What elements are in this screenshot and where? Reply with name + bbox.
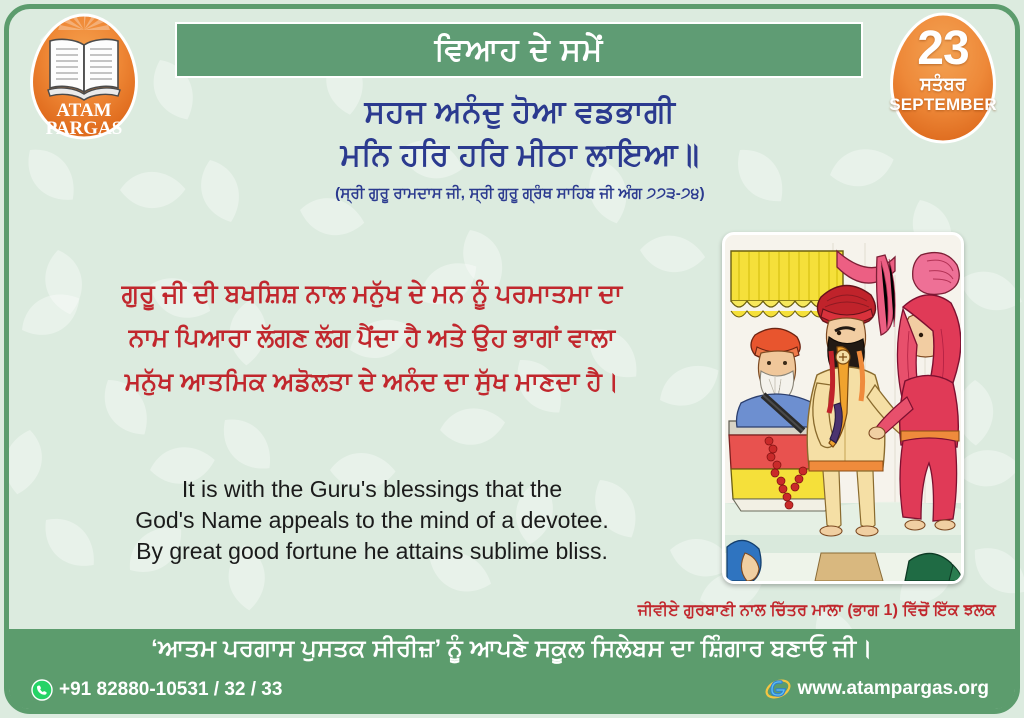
atam-pargas-logo[interactable]: ATAM PARGAS xyxy=(22,12,146,144)
footer-banner: ‘ਆਤਮ ਪਰਗਾਸ ਪੁਸਤਕ ਸੀਰੀਜ਼’ ਨੂੰ ਆਪਣੇ ਸਕੂਲ ਸ… xyxy=(9,629,1015,709)
logo-line2: PARGAS xyxy=(46,118,123,139)
punjabi-line-2: ਨਾਮ ਪਿਆਰਾ ਲੱਗਣ ਲੱਗ ਪੈਂਦਾ ਹੈ ਅਤੇ ਉਹ ਭਾਗਾਂ… xyxy=(42,316,702,360)
title-bar: ਵਿਆਹ ਦੇ ਸਮੇਂ xyxy=(175,22,863,78)
page-title: ਵਿਆਹ ਦੇ ਸਮੇਂ xyxy=(435,32,604,69)
footer-phone-text: +91 82880-10531 / 32 / 33 xyxy=(59,679,282,701)
gurbani-quote: ਸਹਜ ਅਨੰਦੁ ਹੋਆ ਵਡਭਾਗੀ ਮਨਿ ਹਰਿ ਹਰਿ ਮੀਠਾ ਲਾ… xyxy=(175,90,865,202)
quote-citation: (ਸ੍ਰੀ ਗੁਰੂ ਰਾਮਦਾਸ ਜੀ, ਸ੍ਰੀ ਗੁਰੂ ਗ੍ਰੰਥ ਸਾ… xyxy=(175,185,865,202)
open-book-icon xyxy=(48,39,120,100)
illustration-caption: ਜੀਵੀਏ ਗੁਰਬਾਣੀ ਨਾਲ ਚਿੱਤਰ ਮਾਲਾ (ਭਾਗ 1) ਵਿੱ… xyxy=(638,602,996,620)
english-line-3: By great good fortune he attains sublime… xyxy=(42,536,702,567)
footer-website[interactable]: www.atampargas.org xyxy=(765,677,989,701)
english-line-2: God's Name appeals to the mind of a devo… xyxy=(42,505,702,536)
date-badge[interactable]: 23 ਸਤੰਬਰ SEPTEMBER xyxy=(882,10,1004,150)
punjabi-line-1: ਗੁਰੂ ਜੀ ਦੀ ਬਖਸ਼ਿਸ਼ ਨਾਲ ਮਨੁੱਖ ਦੇ ਮਨ ਨੂੰ ਪ… xyxy=(42,272,702,316)
date-month-punjabi: ਸਤੰਬਰ xyxy=(920,73,966,95)
punjabi-explanation: ਗੁਰੂ ਜੀ ਦੀ ਬਖਸ਼ਿਸ਼ ਨਾਲ ਮਨੁੱਖ ਦੇ ਮਨ ਨੂੰ ਪ… xyxy=(42,272,702,404)
footer-phone[interactable]: +91 82880-10531 / 32 / 33 xyxy=(31,679,282,701)
footer-website-text: www.atampargas.org xyxy=(798,678,989,700)
gurbani-daily-card: ATAM PARGAS 23 ਸਤੰਬਰ SEPTEMBER ਵਿਆਹ ਦੇ ਸ… xyxy=(0,0,1024,718)
english-line-1: It is with the Guru's blessings that the xyxy=(42,474,702,505)
date-month-english: SEPTEMBER xyxy=(889,95,997,114)
quote-line-1: ਸਹਜ ਅਨੰਦੁ ਹੋਆ ਵਡਭਾਗੀ xyxy=(175,90,865,133)
english-translation: It is with the Guru's blessings that the… xyxy=(42,474,702,567)
punjabi-line-3: ਮਨੁੱਖ ਆਤਮਿਕ ਅਡੋਲਤਾ ਦੇ ਅਨੰਦ ਦਾ ਸੁੱਖ ਮਾਣਦਾ… xyxy=(42,360,702,404)
internet-explorer-icon xyxy=(765,677,791,701)
sikh-wedding-anand-karaj-illustration[interactable] xyxy=(722,232,964,584)
footer-slogan: ‘ਆਤਮ ਪਰਗਾਸ ਪੁਸਤਕ ਸੀਰੀਜ਼’ ਨੂੰ ਆਪਣੇ ਸਕੂਲ ਸ… xyxy=(9,635,1015,663)
whatsapp-icon xyxy=(31,679,53,701)
date-day: 23 xyxy=(917,26,968,72)
quote-line-2: ਮਨਿ ਹਰਿ ਹਰਿ ਮੀਠਾ ਲਾਇਆ॥ xyxy=(175,133,865,176)
